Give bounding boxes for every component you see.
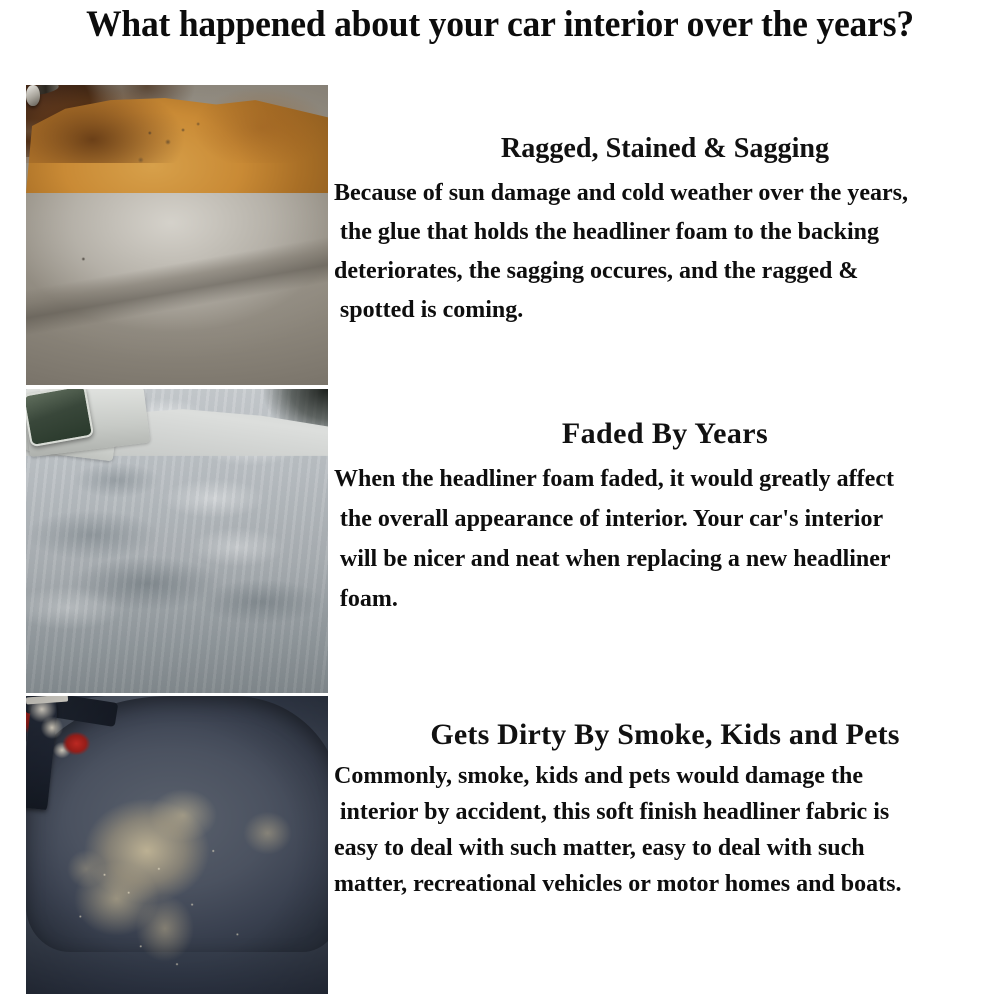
- section-body: Commonly, smoke, kids and pets would dam…: [334, 758, 1000, 902]
- section-heading: Gets Dirty By Smoke, Kids and Pets: [330, 718, 1000, 752]
- body-line: Because of sun damage and cold weather o…: [334, 173, 996, 212]
- body-line: Commonly, smoke, kids and pets would dam…: [334, 758, 996, 794]
- body-line: deteriorates, the sagging occures, and t…: [334, 251, 996, 290]
- faded-headliner-photo: [26, 389, 328, 693]
- body-line: the overall appearance of interior. Your…: [334, 499, 996, 539]
- body-line: spotted is coming.: [334, 290, 996, 329]
- section-gets-dirty-by-smoke-kids-and-pets: Gets Dirty By Smoke, Kids and Pets Commo…: [0, 696, 1000, 994]
- photo-vignette: [26, 696, 328, 994]
- section-faded-by-years: Faded By Years When the headliner foam f…: [0, 389, 1000, 693]
- section-ragged-stained-sagging: Ragged, Stained & Sagging Because of sun…: [0, 85, 1000, 385]
- body-line: foam.: [334, 579, 996, 619]
- section-text-column: Gets Dirty By Smoke, Kids and Pets Commo…: [330, 696, 1000, 994]
- sagging-headliner-photo: [26, 85, 328, 385]
- page-title: What happened about your car interior ov…: [20, 2, 980, 48]
- body-line: will be nicer and neat when replacing a …: [334, 539, 996, 579]
- stain-spots: [26, 85, 328, 385]
- body-line: When the headliner foam faded, it would …: [334, 459, 996, 499]
- section-text-column: Faded By Years When the headliner foam f…: [330, 389, 1000, 693]
- body-line: the glue that holds the headliner foam t…: [334, 212, 996, 251]
- dirty-car-seat-photo: [26, 696, 328, 994]
- section-text-column: Ragged, Stained & Sagging Because of sun…: [330, 85, 1000, 385]
- body-line: matter, recreational vehicles or motor h…: [334, 866, 996, 902]
- section-heading: Ragged, Stained & Sagging: [340, 131, 990, 165]
- section-heading: Faded By Years: [330, 417, 1000, 451]
- section-body: When the headliner foam faded, it would …: [334, 459, 1000, 619]
- dome-light-knob: [26, 85, 40, 106]
- infographic-page: { "page": { "title": "What happened abou…: [0, 0, 1000, 1000]
- body-line: interior by accident, this soft finish h…: [334, 794, 996, 830]
- section-body: Because of sun damage and cold weather o…: [334, 173, 1000, 329]
- body-line: easy to deal with such matter, easy to d…: [334, 830, 996, 866]
